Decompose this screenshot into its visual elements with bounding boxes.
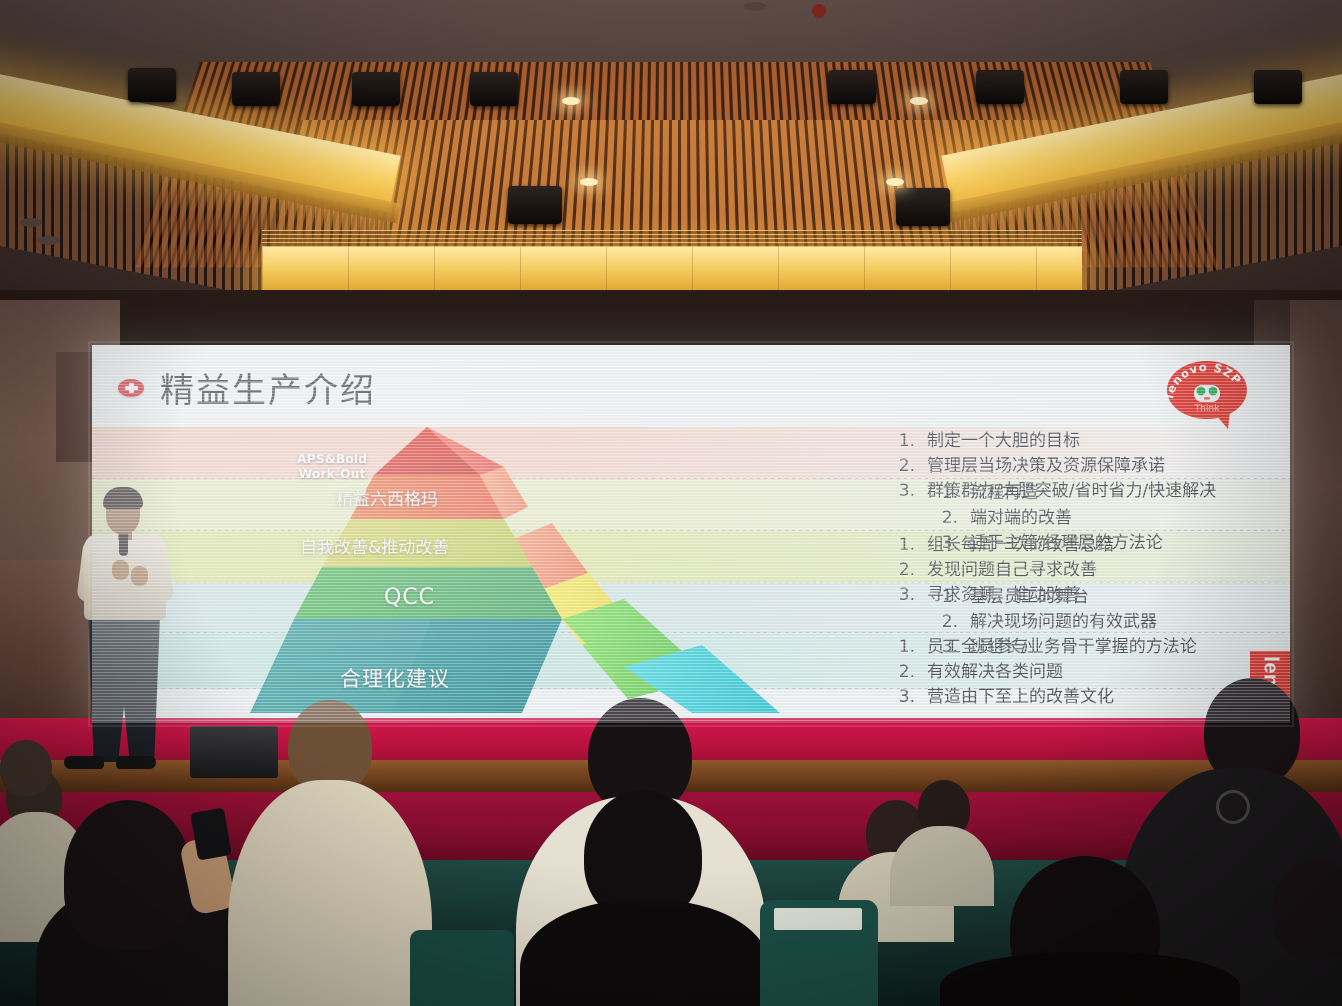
list-item: 1.员工全员参与 [897, 635, 1114, 660]
ceiling-spotlight [470, 72, 518, 106]
list-item-text: 有效解决各类问题 [927, 660, 1063, 685]
slide-title-row: 精益生产介绍 [118, 363, 376, 412]
list-item: 3.营造由下至上的改善文化 [897, 685, 1114, 710]
ceiling-downlight [886, 178, 904, 186]
list-item-text: 组长每周一次的改善总结 [927, 533, 1114, 558]
list-item-number: 1. [897, 533, 915, 558]
presentation-screen: 精益生产介绍 lenovo SZP Think lenovo [92, 345, 1290, 723]
ceiling-spotlight [828, 70, 876, 104]
sprinkler-head [812, 4, 826, 18]
smoke-detector [38, 236, 60, 245]
list-item-number: 3. [897, 479, 915, 504]
list-item: 2.端对端的改善 [940, 506, 1163, 531]
presenter-hand-right [131, 566, 148, 586]
stage-monitor-speaker [190, 726, 278, 778]
pyramid-level-label-4: QCC [384, 585, 435, 610]
list-item-text: 流程再造 [970, 481, 1038, 506]
list-item-number: 2. [897, 660, 915, 685]
list-item-text: 基层员工的舞台 [970, 585, 1089, 610]
list-item-text: 制定一个大胆的目标 [927, 429, 1080, 454]
lenovo-szp-logo: lenovo SZP Think [1164, 357, 1250, 431]
list-item-text: 端对端的改善 [970, 506, 1072, 531]
list-item-text: 解决现场问题的有效武器 [970, 610, 1157, 635]
lean-production-pyramid: APS&Bold Work-Out 精益六西格玛 自我改善&推动改善 QCC 合… [232, 423, 872, 713]
bullet-list-5: 1.员工全员参与2.有效解决各类问题3.营造由下至上的改善文化 [897, 635, 1114, 710]
list-item-number: 2. [897, 558, 915, 583]
list-item-number: 1. [940, 585, 958, 610]
ceiling-spotlight [232, 72, 280, 106]
list-item-number: 1. [940, 481, 958, 506]
ceiling-shadow-gap [0, 290, 1342, 340]
ceiling-spotlight [976, 70, 1024, 104]
presenter-hand-left [112, 560, 129, 580]
audience-body [940, 952, 1240, 1006]
pyramid-level-label-5: 合理化建议 [340, 663, 450, 693]
list-item-number: 3. [897, 685, 915, 710]
title-bullet-icon [118, 379, 144, 397]
audience-head [64, 800, 192, 950]
ceiling-downlight [580, 178, 598, 186]
smoke-detector [20, 218, 42, 227]
presenter-shoe-left [64, 756, 104, 769]
pyramid-level-label-2: 精益六西格玛 [336, 485, 438, 510]
list-item-number: 2. [897, 454, 915, 479]
presenter-shoe-right [116, 756, 156, 769]
ceiling-spotlight [1254, 70, 1302, 104]
ceiling-spotlight [352, 72, 400, 106]
conference-hall-photo: 精益生产介绍 lenovo SZP Think lenovo [0, 0, 1342, 1006]
list-item-number: 2. [940, 610, 958, 635]
list-item: 2.有效解决各类问题 [897, 660, 1114, 685]
ceiling-cove-lip-bottom [262, 230, 1082, 248]
ceiling-spotlight [896, 188, 950, 226]
list-item: 2.发现问题自己寻求改善 [897, 558, 1114, 583]
list-item-number: 2. [940, 506, 958, 531]
audience-head [0, 740, 52, 796]
list-item-text: 管理层当场决策及资源保障承诺 [927, 454, 1165, 479]
ceiling-spotlight [508, 186, 562, 224]
list-item: 1.基层员工的舞台 [940, 585, 1197, 610]
list-item-text: 发现问题自己寻求改善 [927, 558, 1097, 583]
list-item-text: 员工全员参与 [927, 635, 1029, 660]
list-item-number: 3. [897, 583, 915, 608]
presenter-glasses [108, 506, 138, 512]
list-item-text: 营造由下至上的改善文化 [927, 685, 1114, 710]
list-item: 1.流程再造 [940, 481, 1163, 506]
pyramid-level-label-1: APS&Bold Work-Out [280, 451, 384, 481]
ceiling-spotlight [1120, 70, 1168, 104]
pyramid-level-label-3: 自我改善&推动改善 [300, 533, 449, 558]
list-item-number: 1. [897, 635, 915, 660]
page-title: 精益生产介绍 [160, 363, 376, 412]
list-item: 2.解决现场问题的有效武器 [940, 610, 1197, 635]
ceiling-cove-light-bottom [262, 247, 1082, 293]
ceiling-downlight [910, 97, 928, 105]
audience-chair [410, 930, 514, 1006]
ceiling-downlight [562, 97, 580, 105]
svg-text:Think: Think [1194, 404, 1220, 414]
ceiling-spotlight [128, 68, 176, 102]
list-item: 1.制定一个大胆的目标 [897, 429, 1216, 454]
printed-handout [774, 908, 862, 930]
list-item: 2.管理层当场决策及资源保障承诺 [897, 454, 1216, 479]
lanyard-badge [1216, 790, 1250, 824]
list-item-number: 1. [897, 429, 915, 454]
list-item: 1.组长每周一次的改善总结 [897, 533, 1114, 558]
smoke-detector [744, 2, 766, 11]
